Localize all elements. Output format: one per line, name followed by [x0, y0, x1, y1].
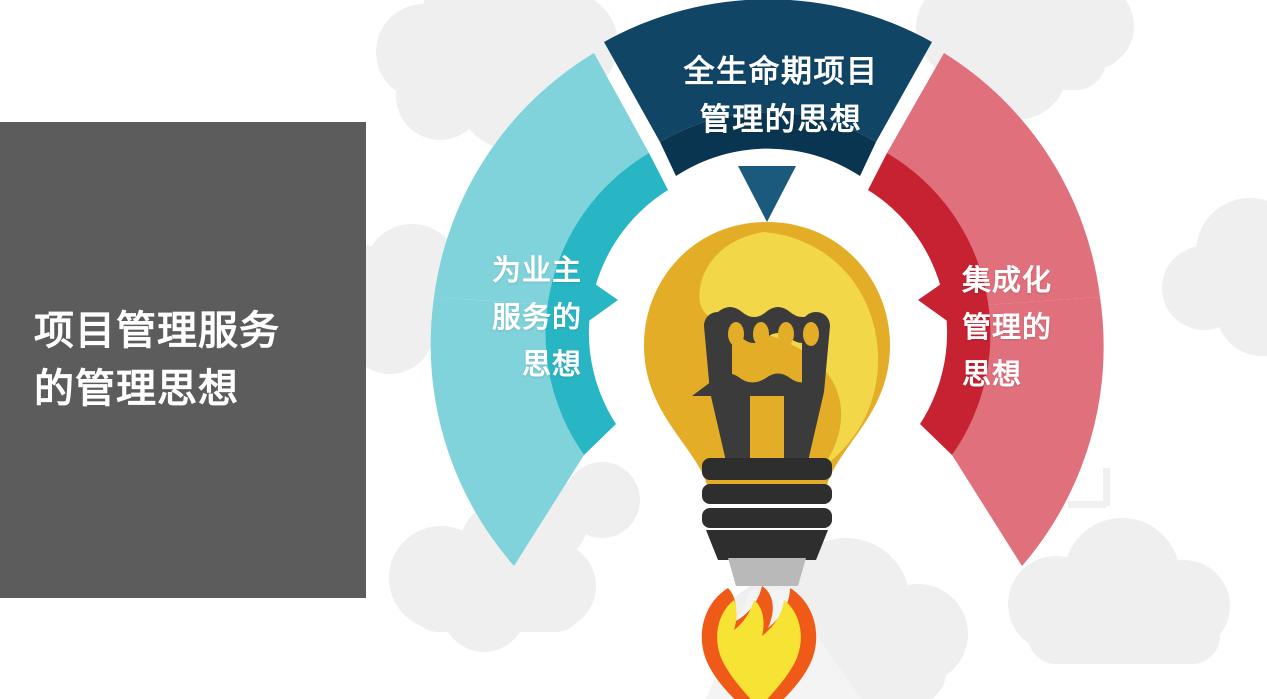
cloud-icon-mid-right	[1162, 198, 1267, 356]
arc-infographic-diagram	[366, 0, 1267, 699]
lightbulb-icon	[644, 222, 890, 586]
crop-mark-horizontal-bar	[1068, 501, 1106, 508]
title-panel: 项目管理服务 的管理思想	[0, 122, 366, 598]
bulb-contact-tip	[728, 558, 806, 586]
crop-mark-vertical-bar	[1103, 468, 1110, 506]
page-title: 项目管理服务 的管理思想	[0, 302, 314, 418]
corner-crop-mark	[1068, 468, 1110, 508]
slide-canvas: 项目管理服务 的管理思想	[0, 0, 1267, 699]
arc-segment-top-arrow	[738, 166, 796, 222]
bulb-screw-base	[702, 458, 832, 560]
